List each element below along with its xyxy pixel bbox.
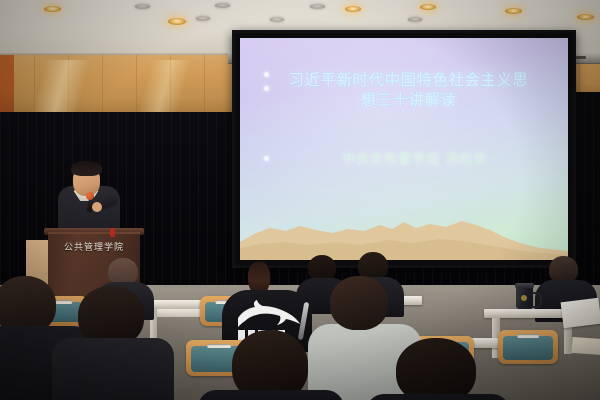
slide-title-line1: 习近平新时代中国特色社会主义思 (288, 72, 528, 89)
chair-handle-slot (55, 300, 72, 304)
thermos-handle (531, 292, 542, 308)
ceiling-light-icon (215, 3, 230, 8)
ceiling-light-icon (135, 4, 150, 9)
projection-screen: 习近平新时代中国特色社会主义思 想三十讲解读 中央党校督学组 洪向华 (232, 30, 576, 268)
person-head (330, 276, 388, 330)
person-torso (198, 390, 344, 400)
puma-cat-logo-icon (236, 298, 302, 330)
ceiling-light-icon (408, 17, 422, 22)
wall-highlight (0, 60, 238, 114)
ceiling-light-icon (168, 18, 186, 25)
chair[interactable] (498, 330, 558, 364)
slide-title: 习近平新时代中国特色社会主义思 想三十讲解读 (266, 71, 551, 111)
ceiling-light-icon (577, 14, 594, 20)
ceiling-light-icon (196, 16, 210, 21)
chair-seat-pad (503, 336, 553, 360)
podium-mic-indicator-icon (110, 228, 115, 237)
ceiling-light-icon (420, 4, 436, 10)
ceiling-light-icon (505, 8, 522, 14)
lecture-hall-photo: 习近平新时代中国特色社会主义思 想三十讲解读 中央党校督学组 洪向华 公共管理学… (0, 0, 600, 400)
chair-handle-slot (207, 344, 231, 348)
podium-sign: 公共管理学院 (52, 240, 136, 253)
accent-wall-panel (0, 55, 14, 115)
speaker-hand (92, 202, 102, 212)
slide-title-line2: 想三十讲解读 (266, 91, 551, 111)
document-papers (561, 298, 600, 328)
person-head (78, 286, 144, 346)
person-torso (52, 338, 174, 400)
ceiling-light-icon (310, 4, 325, 9)
microphone-head-icon (86, 192, 94, 200)
ceiling-light-icon (44, 6, 61, 12)
slide-surface: 习近平新时代中国特色社会主义思 想三十讲解读 中央党校督学组 洪向华 (240, 38, 568, 260)
slide-subtitle: 中央党校督学组 洪向华 (280, 148, 550, 167)
ceiling-light-icon (270, 17, 284, 22)
slide-bullet-icon (264, 156, 269, 161)
document-papers (571, 337, 600, 355)
ceiling-light-icon (345, 6, 361, 12)
housing-vent-icon (576, 56, 586, 59)
thermos-badge-icon (521, 295, 527, 301)
slide-mountain-graphic (240, 204, 568, 260)
person-head (396, 338, 476, 400)
chair-handle-slot (517, 334, 539, 338)
speaker-hair (71, 161, 102, 176)
thermos-lid (515, 283, 534, 288)
person-torso (366, 394, 510, 400)
